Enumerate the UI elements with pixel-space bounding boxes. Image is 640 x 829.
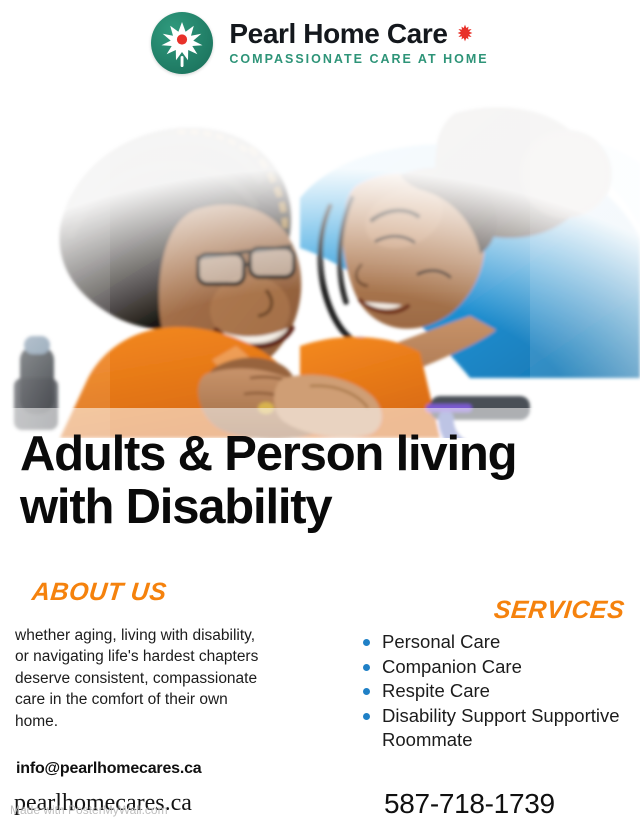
brand-header: Pearl Home Care COMPASSIONATE CARE AT HO… xyxy=(0,0,640,85)
bullet-icon xyxy=(363,713,370,720)
about-section-title: ABOUT US xyxy=(30,578,168,607)
list-item: Companion Care xyxy=(360,655,630,679)
brand-name: Pearl Home Care xyxy=(229,19,447,48)
list-item: Personal Care xyxy=(360,630,630,654)
services-list: Personal Care Companion Care Respite Car… xyxy=(360,630,630,752)
brand-tagline: COMPASSIONATE CARE AT HOME xyxy=(229,52,488,66)
bullet-icon xyxy=(363,664,370,671)
brand-title-row: Pearl Home Care xyxy=(229,19,488,48)
maple-leaf-icon xyxy=(457,24,473,42)
list-item: Respite Care xyxy=(360,679,630,703)
page-title: Adults & Person living with Disability xyxy=(20,428,620,534)
starburst-flower-logo-icon xyxy=(151,12,213,74)
postermywall-watermark: Made with PosterMyWall.com xyxy=(10,803,168,817)
contact-phone[interactable]: 587-718-1739 xyxy=(384,788,555,820)
about-section-body: whether aging, living with disability, o… xyxy=(15,625,265,732)
service-label: Respite Care xyxy=(382,680,490,701)
contact-email[interactable]: info@pearlhomecares.ca xyxy=(16,760,202,778)
services-section-title: SERVICES xyxy=(492,596,625,625)
list-item: Disability Support Supportive Roommate xyxy=(360,704,630,751)
service-label: Companion Care xyxy=(382,656,522,677)
bullet-icon xyxy=(363,688,370,695)
hero-photo xyxy=(0,78,640,438)
service-label: Disability Support Supportive Roommate xyxy=(382,705,620,750)
service-label: Personal Care xyxy=(382,631,500,652)
brand-text-block: Pearl Home Care COMPASSIONATE CARE AT HO… xyxy=(229,19,488,66)
poster: Pearl Home Care COMPASSIONATE CARE AT HO… xyxy=(0,0,640,829)
bullet-icon xyxy=(363,639,370,646)
